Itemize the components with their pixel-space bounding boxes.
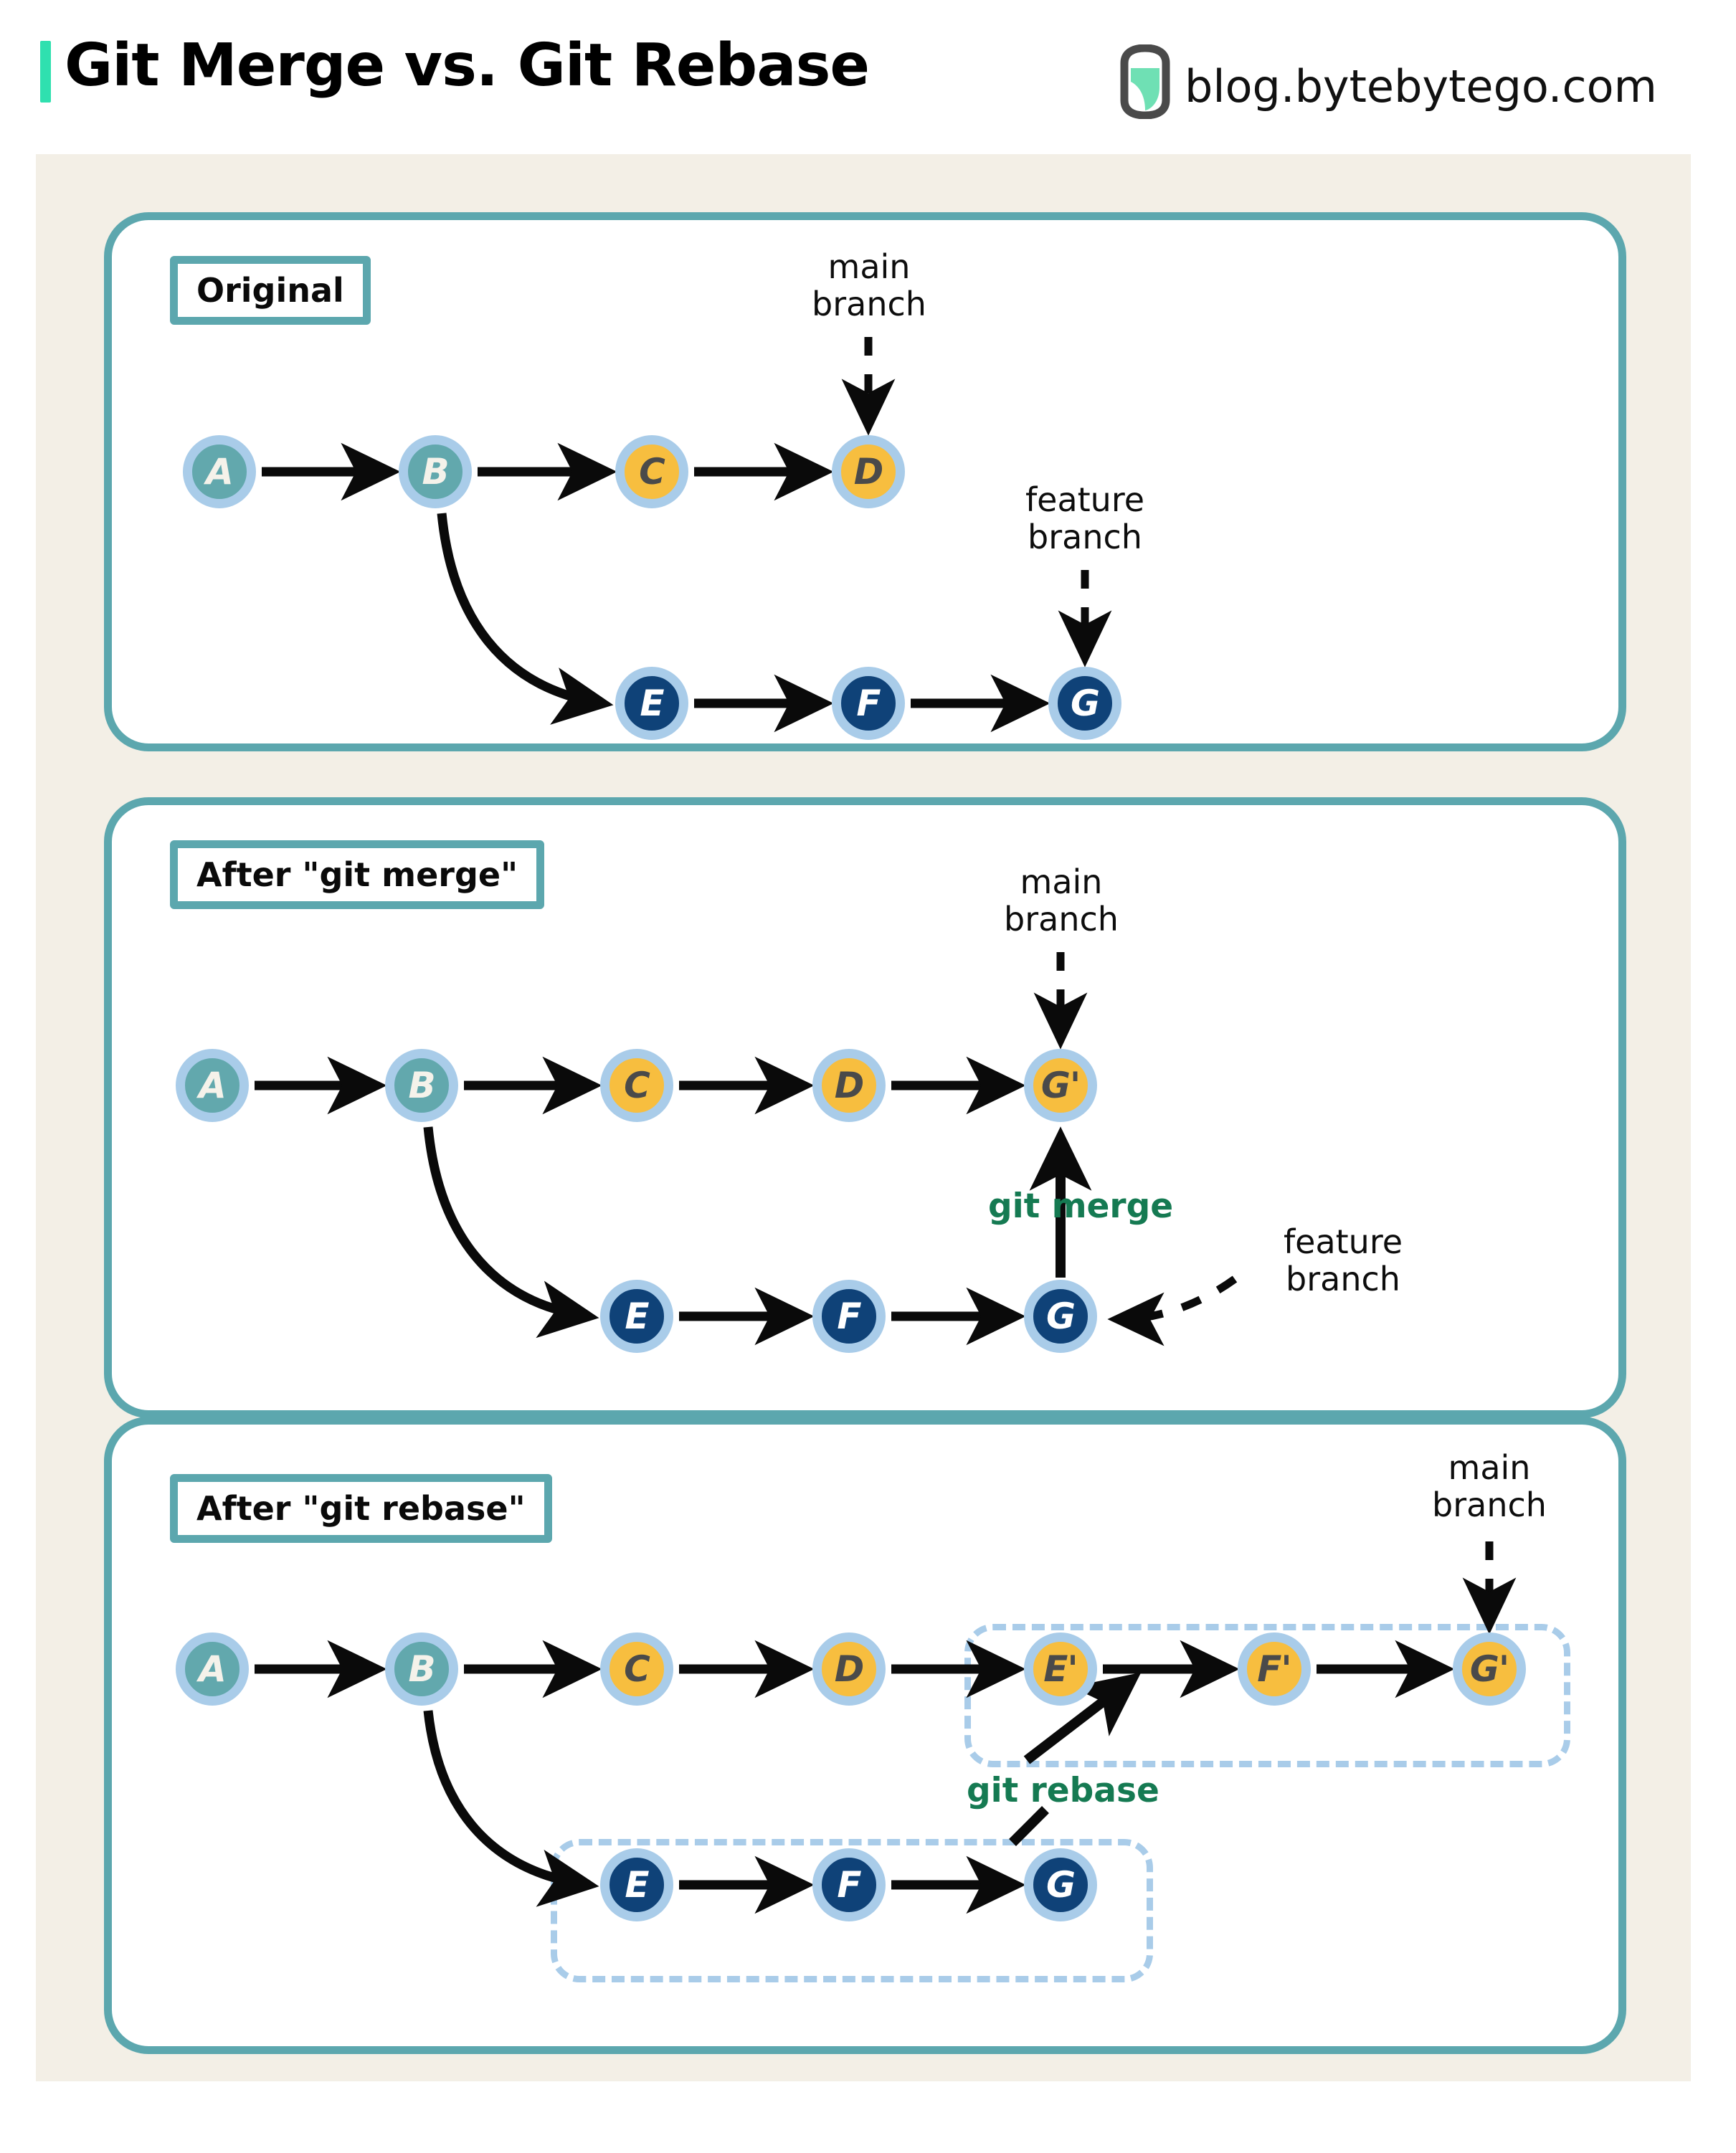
page-title: Git Merge vs. Git Rebase — [65, 32, 869, 100]
commit-node-F-merge[interactable]: F — [812, 1280, 886, 1353]
commit-node-E-merge[interactable]: E — [600, 1280, 673, 1353]
commit-node-B-merge[interactable]: B — [385, 1049, 458, 1122]
title-accent-bar — [40, 41, 51, 103]
bytebytego-logo-icon — [1116, 44, 1175, 119]
commit-node-F[interactable]: F — [832, 667, 905, 740]
git-rebase-command-label: git rebase — [967, 1771, 1159, 1810]
commit-node-C-merge[interactable]: C — [600, 1049, 673, 1122]
panel-label-original: Original — [170, 256, 371, 325]
commit-node-B-rebase[interactable]: B — [385, 1632, 458, 1706]
commit-node-D-rebase[interactable]: D — [812, 1632, 886, 1706]
commit-node-A-merge[interactable]: A — [176, 1049, 249, 1122]
commit-node-G-merge[interactable]: G — [1024, 1280, 1097, 1353]
commit-node-D[interactable]: D — [832, 435, 905, 508]
brand-block: blog.bytebytego.com — [1116, 43, 1661, 122]
commit-node-E[interactable]: E — [615, 667, 688, 740]
commit-node-D-merge[interactable]: D — [812, 1049, 886, 1122]
commit-node-C-rebase[interactable]: C — [600, 1632, 673, 1706]
commit-node-Eprime-rebase[interactable]: E' — [1024, 1632, 1097, 1706]
commit-node-Gprime-rebase[interactable]: G' — [1453, 1632, 1526, 1706]
main-branch-label-1: main branch — [736, 249, 1002, 323]
panel-label-after-git-rebase: After "git rebase" — [170, 1474, 552, 1543]
main-branch-label-2: main branch — [929, 864, 1194, 938]
commit-node-Gprime-merge[interactable]: G' — [1024, 1049, 1097, 1122]
commit-node-A[interactable]: A — [183, 435, 256, 508]
commit-node-E-rebase[interactable]: E — [600, 1848, 673, 1921]
commit-node-A-rebase[interactable]: A — [176, 1632, 249, 1706]
commit-node-G-rebase[interactable]: G — [1024, 1848, 1097, 1921]
commit-node-Fprime-rebase[interactable]: F' — [1238, 1632, 1311, 1706]
panel-label-after-git-merge: After "git merge" — [170, 840, 544, 909]
commit-node-F-rebase[interactable]: F — [812, 1848, 886, 1921]
commit-node-B[interactable]: B — [399, 435, 472, 508]
commit-node-G[interactable]: G — [1048, 667, 1121, 740]
main-branch-label-3: main branch — [1357, 1450, 1622, 1524]
git-merge-command-label: git merge — [988, 1187, 1173, 1226]
brand-text: blog.bytebytego.com — [1185, 60, 1657, 113]
feature-branch-label-1: feature branch — [945, 482, 1225, 556]
feature-branch-label-2: feature branch — [1203, 1224, 1483, 1298]
commit-node-C[interactable]: C — [615, 435, 688, 508]
page-header: Git Merge vs. Git Rebase blog.bytebytego… — [0, 0, 1736, 154]
